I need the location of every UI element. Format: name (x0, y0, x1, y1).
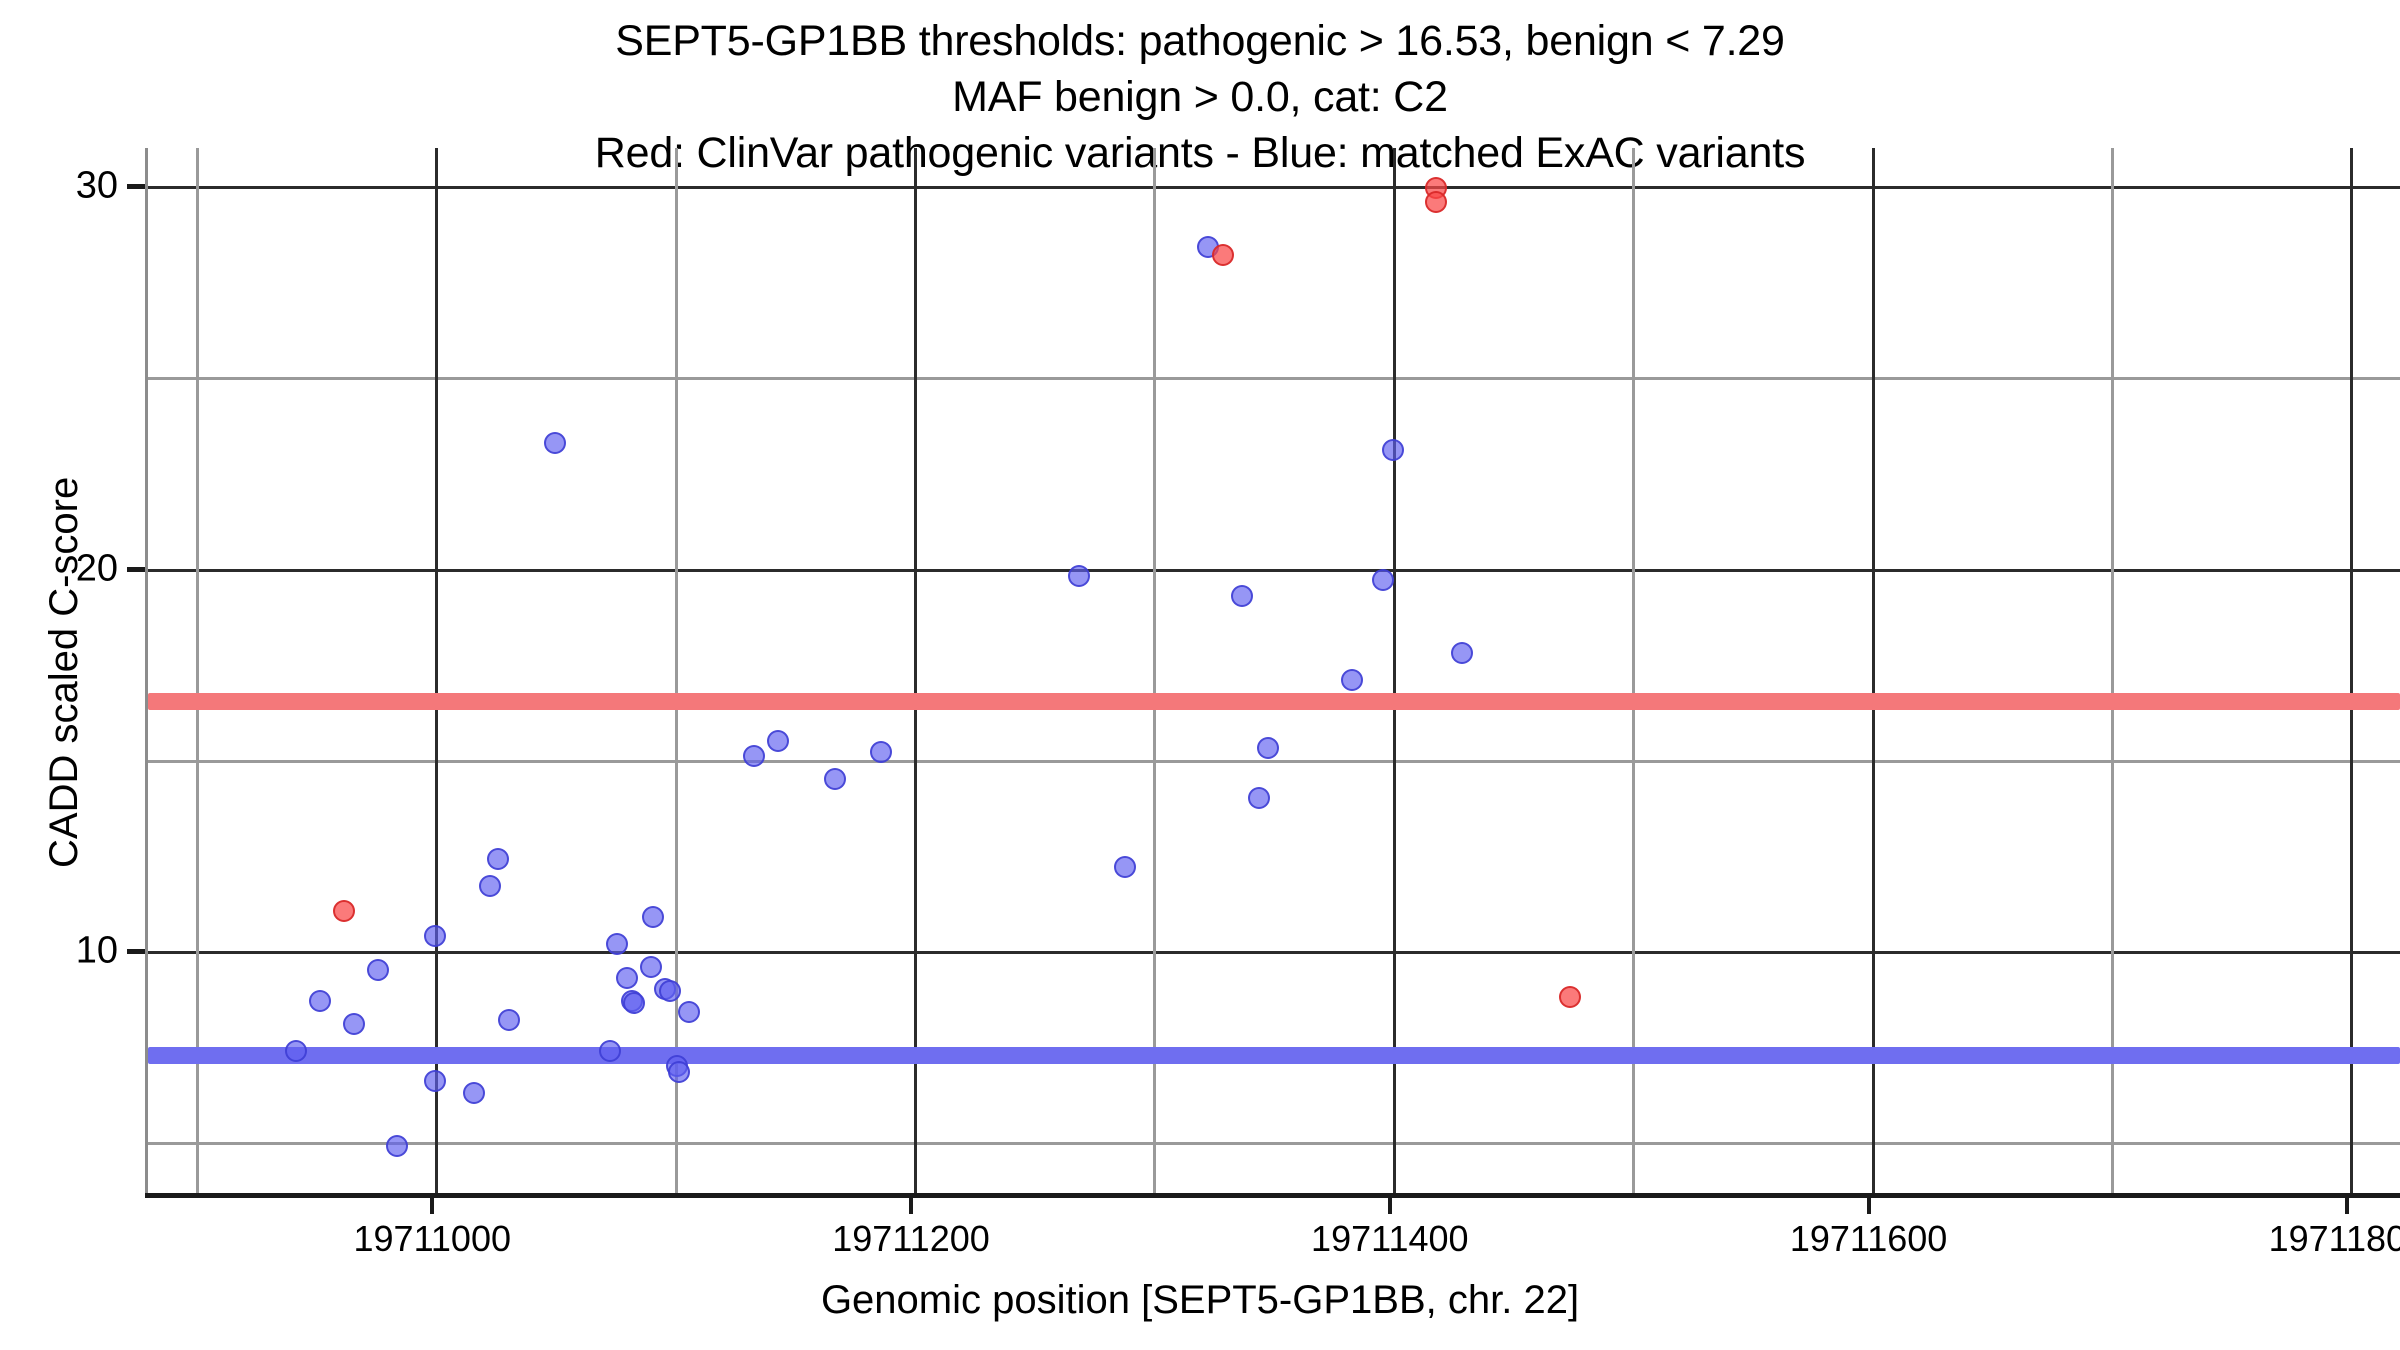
data-point-matched-exac (623, 992, 645, 1014)
gridline-horizontal-minor (148, 1142, 2400, 1145)
y-axis-tick (127, 567, 145, 572)
data-point-matched-exac (544, 432, 566, 454)
data-point-matched-exac (599, 1040, 621, 1062)
data-point-matched-exac (1341, 669, 1363, 691)
data-point-matched-exac (487, 848, 509, 870)
gridline-vertical-major (2350, 148, 2353, 1196)
x-axis-tick (1388, 1196, 1392, 1214)
data-point-matched-exac (367, 959, 389, 981)
data-point-matched-exac (424, 925, 446, 947)
data-point-matched-exac (1114, 856, 1136, 878)
threshold-line-benign (148, 1047, 2400, 1064)
gridline-horizontal-minor (148, 377, 2400, 380)
data-point-matched-exac (343, 1013, 365, 1035)
x-axis-tick-label: 19711200 (832, 1218, 990, 1260)
chart-title-line-1: SEPT5-GP1BB thresholds: pathogenic > 16.… (0, 14, 2400, 70)
gridline-horizontal-major (148, 951, 2400, 954)
data-point-matched-exac (1382, 439, 1404, 461)
chart-title-line-2: MAF benign > 0.0, cat: C2 (0, 70, 2400, 126)
y-axis-tick (127, 949, 145, 954)
data-point-matched-exac (743, 745, 765, 767)
threshold-line-pathogenic (148, 693, 2400, 710)
x-axis-tick-label: 19711400 (1311, 1218, 1469, 1260)
data-point-matched-exac (1231, 585, 1253, 607)
x-axis-title: Genomic position [SEPT5-GP1BB, chr. 22] (0, 1278, 2400, 1323)
data-point-clinvar-pathogenic (1559, 986, 1581, 1008)
gridline-vertical-major (435, 148, 438, 1196)
plot-area (145, 148, 2400, 1196)
data-point-matched-exac (668, 1061, 690, 1083)
data-point-clinvar-pathogenic (333, 900, 355, 922)
gridline-vertical-minor (2111, 148, 2114, 1196)
data-point-matched-exac (498, 1009, 520, 1031)
data-point-clinvar-pathogenic (1212, 244, 1234, 266)
x-axis-tick (1867, 1196, 1871, 1214)
gridline-horizontal-major (148, 186, 2400, 189)
data-point-matched-exac (386, 1135, 408, 1157)
gridline-vertical-major (1393, 148, 1396, 1196)
y-axis-tick-label: 10 (76, 930, 118, 973)
y-axis-tick-label: 30 (76, 165, 118, 208)
data-point-matched-exac (309, 990, 331, 1012)
data-point-matched-exac (479, 875, 501, 897)
x-axis-line (145, 1193, 2400, 1198)
x-axis-tick-label: 19711800 (2269, 1218, 2400, 1260)
data-point-matched-exac (1068, 565, 1090, 587)
data-point-clinvar-pathogenic (1425, 191, 1447, 213)
gridline-vertical-minor (1632, 148, 1635, 1196)
data-point-matched-exac (1248, 787, 1270, 809)
data-point-matched-exac (678, 1001, 700, 1023)
x-axis-tick-label: 19711000 (354, 1218, 512, 1260)
data-point-matched-exac (640, 956, 662, 978)
gridline-horizontal-major (148, 569, 2400, 572)
scatter-plot-figure: SEPT5-GP1BB thresholds: pathogenic > 16.… (0, 0, 2400, 1350)
gridline-vertical-minor (196, 148, 199, 1196)
x-axis-tick (909, 1196, 913, 1214)
data-point-matched-exac (1372, 569, 1394, 591)
data-point-matched-exac (1257, 737, 1279, 759)
x-axis-tick (2345, 1196, 2349, 1214)
gridline-vertical-minor (1153, 148, 1156, 1196)
data-point-matched-exac (767, 730, 789, 752)
data-point-matched-exac (616, 967, 638, 989)
gridline-vertical-major (914, 148, 917, 1196)
data-point-matched-exac (606, 933, 628, 955)
gridline-vertical-major (1872, 148, 1875, 1196)
gridline-horizontal-minor (148, 760, 2400, 763)
gridline-vertical-minor (675, 148, 678, 1196)
data-point-matched-exac (1451, 642, 1473, 664)
x-axis-tick (430, 1196, 434, 1214)
data-point-matched-exac (870, 741, 892, 763)
y-axis-tick (127, 184, 145, 189)
data-point-matched-exac (824, 768, 846, 790)
data-point-matched-exac (642, 906, 664, 928)
data-point-matched-exac (463, 1082, 485, 1104)
data-point-matched-exac (285, 1040, 307, 1062)
x-axis-tick-label: 19711600 (1790, 1218, 1948, 1260)
data-point-matched-exac (424, 1070, 446, 1092)
y-axis-title: CADD scaled C-score (42, 476, 87, 867)
